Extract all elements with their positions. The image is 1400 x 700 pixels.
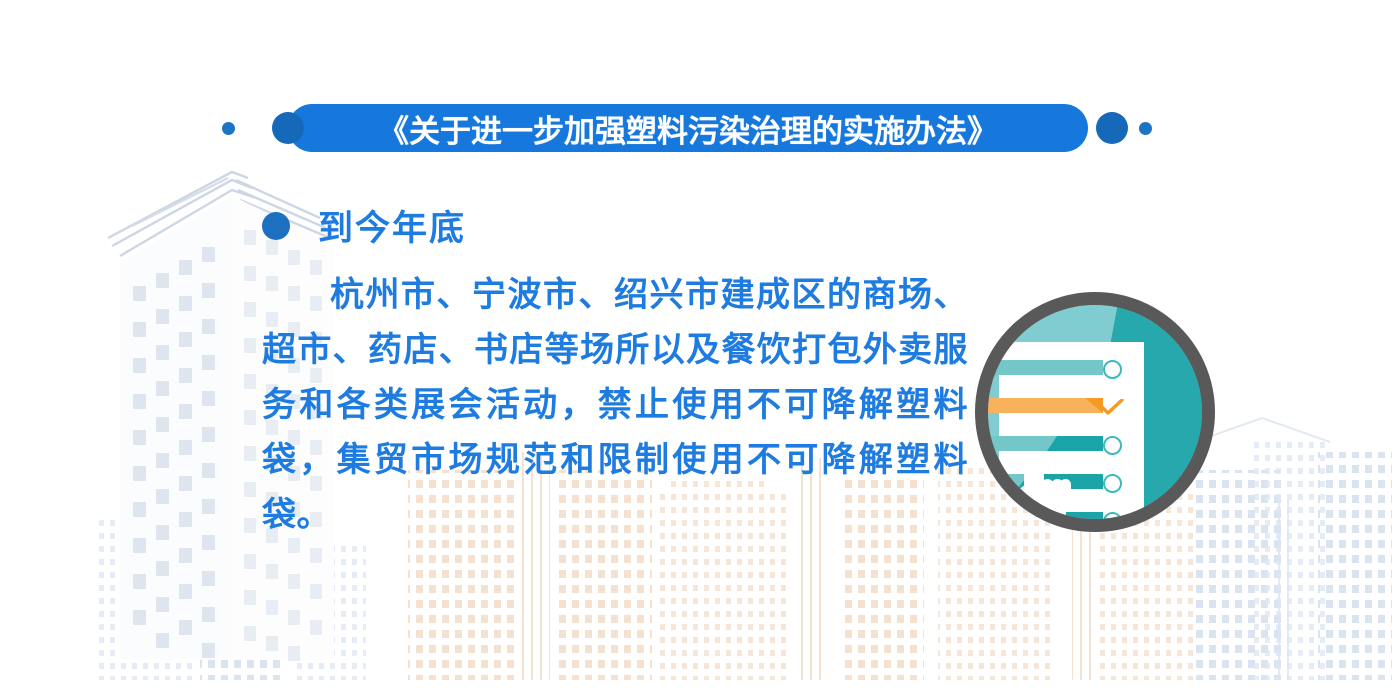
checklist-illustration [975,292,1215,532]
banner-mini-dot-left [222,122,235,135]
slide-canvas: 《关于进一步加强塑料污染治理的实施办法》 到今年底 杭州市、宁波市、绍兴市建成区… [0,0,1400,700]
body-paragraph: 杭州市、宁波市、绍兴市建成区的商场、超市、药店、书店等场所以及餐饮打包外卖服务和… [262,268,968,543]
illustration-ring [975,292,1215,532]
banner-title-text: 《关于进一步加强塑料污染治理的实施办法》 [288,104,1088,152]
subtitle-text: 到今年底 [318,200,466,251]
subtitle-row: 到今年底 [262,200,466,251]
bullet-dot-icon [262,212,290,240]
banner-cap-dot-right [1096,112,1128,144]
title-banner: 《关于进一步加强塑料污染治理的实施办法》 [0,96,1400,160]
banner-mini-dot-right [1139,122,1152,135]
